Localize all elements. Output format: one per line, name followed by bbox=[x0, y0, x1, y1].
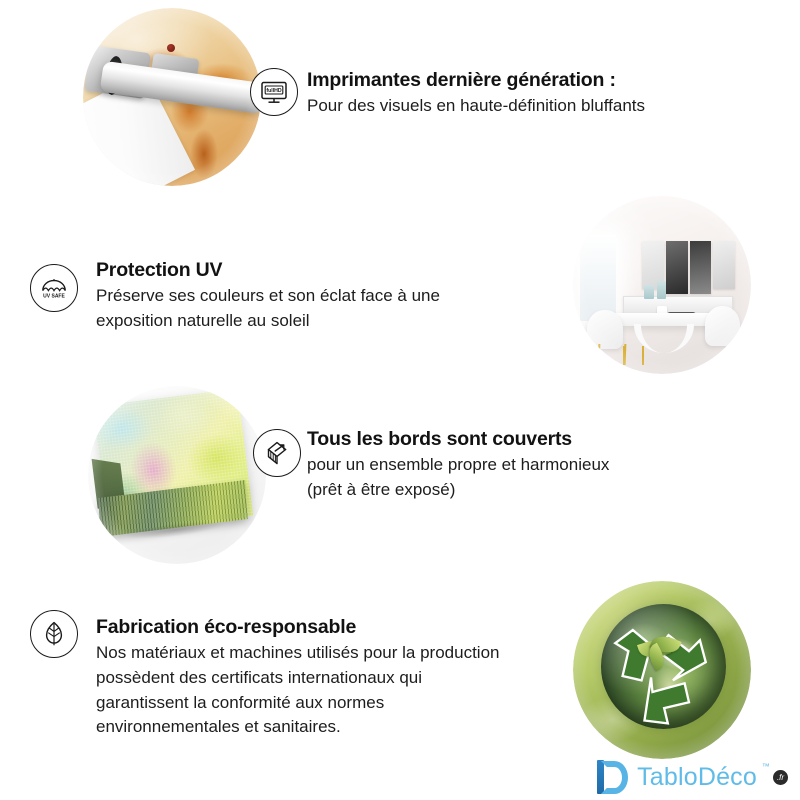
trademark-symbol: ™ bbox=[762, 763, 770, 771]
brand-name: TabloDéco bbox=[637, 763, 757, 791]
bright-dining-room-wall-art-photo bbox=[573, 196, 751, 374]
domain-badge: .fr bbox=[773, 770, 788, 785]
fullhd-monitor-icon: fullHD bbox=[250, 68, 298, 116]
feature-eco-heading: Fabrication éco-responsable bbox=[96, 615, 596, 639]
feature-eco-text: Fabrication éco-responsable Nos matériau… bbox=[96, 615, 596, 740]
feature-edges-body: pour un ensemble propre et harmonieux (p… bbox=[307, 453, 727, 502]
feature-uv-heading: Protection UV bbox=[96, 258, 556, 282]
printer-roller-world-map-photo bbox=[83, 8, 261, 186]
feature-uv-body: Préserve ses couleurs et son éclat face … bbox=[96, 284, 556, 333]
canvas-corner-wrapped-edge-photo bbox=[88, 386, 266, 564]
feature-edges-text: Tous les bords sont couverts pour un ens… bbox=[307, 427, 727, 503]
leaf-icon bbox=[30, 610, 78, 658]
feature-printers-heading: Imprimantes dernière génération : bbox=[307, 68, 727, 92]
feature-printers-text: Imprimantes dernière génération : Pour d… bbox=[307, 68, 727, 119]
recycling-arrows-icon bbox=[589, 595, 735, 741]
tablodeco-d-mark-icon bbox=[594, 760, 630, 794]
feature-printers-body: Pour des visuels en haute-définition blu… bbox=[307, 94, 727, 119]
wrapped-edges-box-arrow-icon bbox=[253, 429, 301, 477]
fullhd-icon-label: fullHD bbox=[266, 88, 282, 94]
uv-safe-icon-label: UV SAFE bbox=[43, 294, 65, 300]
brand-wordmark: TabloDéco ™ bbox=[637, 765, 757, 790]
green-earth-recycling-photo bbox=[573, 581, 751, 759]
feature-uv-text: Protection UV Préserve ses couleurs et s… bbox=[96, 258, 556, 334]
brand-logo[interactable]: TabloDéco ™ .fr bbox=[594, 760, 788, 794]
feature-edges-heading: Tous les bords sont couverts bbox=[307, 427, 727, 451]
uv-safe-umbrella-icon: UV SAFE bbox=[30, 264, 78, 312]
feature-eco-body: Nos matériaux et machines utilisés pour … bbox=[96, 641, 596, 740]
